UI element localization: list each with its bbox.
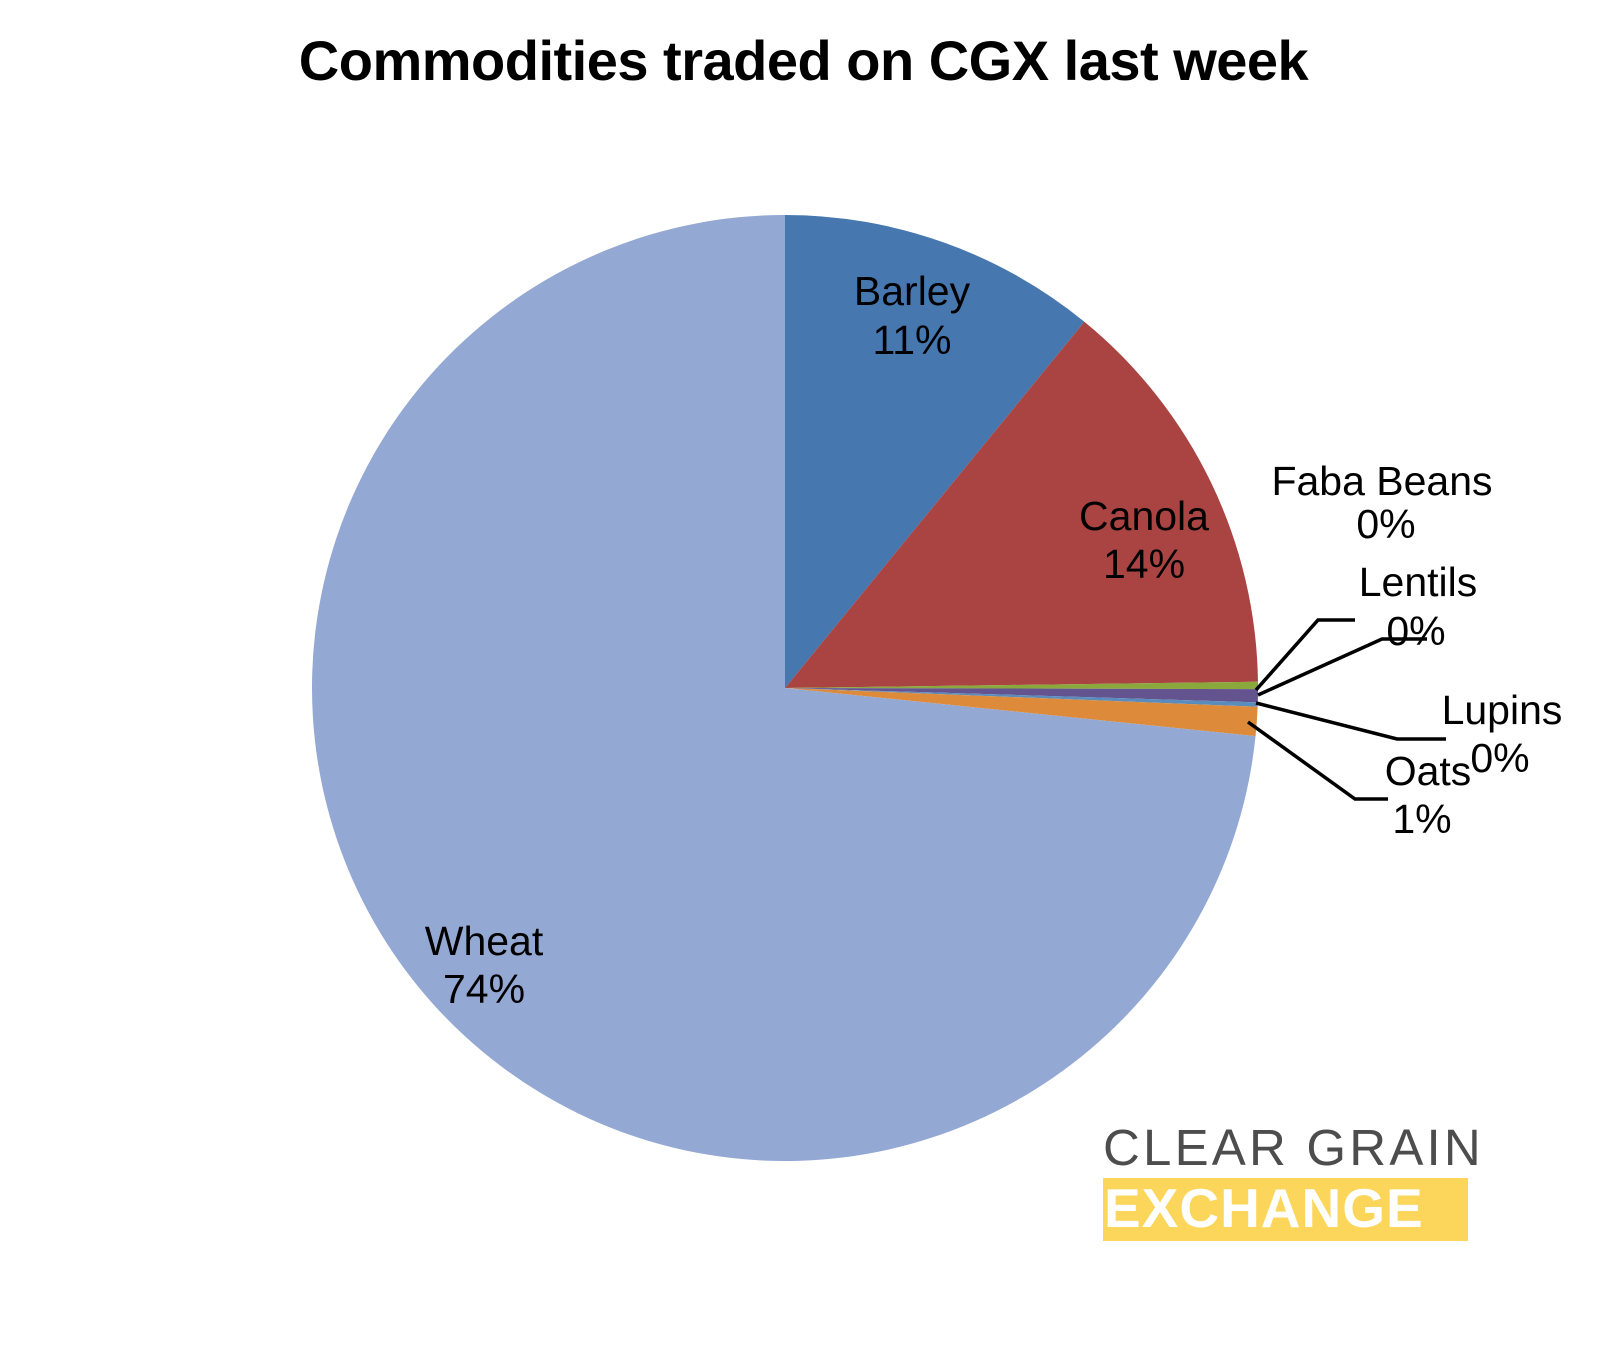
pie-slices [312,215,1258,1161]
leader-line-lupins [1256,703,1446,739]
callout-label-lupins-percent: 0% [1470,735,1529,781]
logo-line-clear-grain: CLEAR GRAIN [1103,1122,1463,1173]
slice-label-canola-percent: 14% [1103,541,1185,587]
callout-label-oats-percent: 1% [1392,796,1451,842]
slice-label-wheat-name: Wheat [425,918,544,964]
callout-label-lupins-name: Lupins [1442,687,1563,733]
slice-label-barley-name: Barley [854,268,971,314]
leader-line-oats [1248,722,1388,799]
callout-label-lentils-percent: 0% [1386,608,1445,654]
logo-line-exchange: EXCHANGE [1103,1181,1468,1236]
slice-label-canola-name: Canola [1079,493,1209,539]
logo-band: EXCHANGE [1103,1178,1468,1241]
callout-label-faba-beans-name: Faba Beans [1271,458,1492,504]
pie-chart-figure: Commodities traded on CGX last week Barl… [0,0,1607,1350]
callout-label-oats-name: Oats [1385,748,1472,794]
slice-label-barley-percent: 11% [872,317,951,363]
callout-labels: Faba Beans 0% Lentils 0% Lupins 0% Oats … [1271,458,1562,842]
leader-line-faba-beans [1256,620,1355,690]
callout-label-lentils-name: Lentils [1359,559,1478,605]
slice-label-wheat-percent: 74% [443,966,525,1012]
clear-grain-exchange-logo: CLEAR GRAIN EXCHANGE [1103,1122,1463,1241]
callout-label-faba-beans-percent: 0% [1356,501,1415,547]
